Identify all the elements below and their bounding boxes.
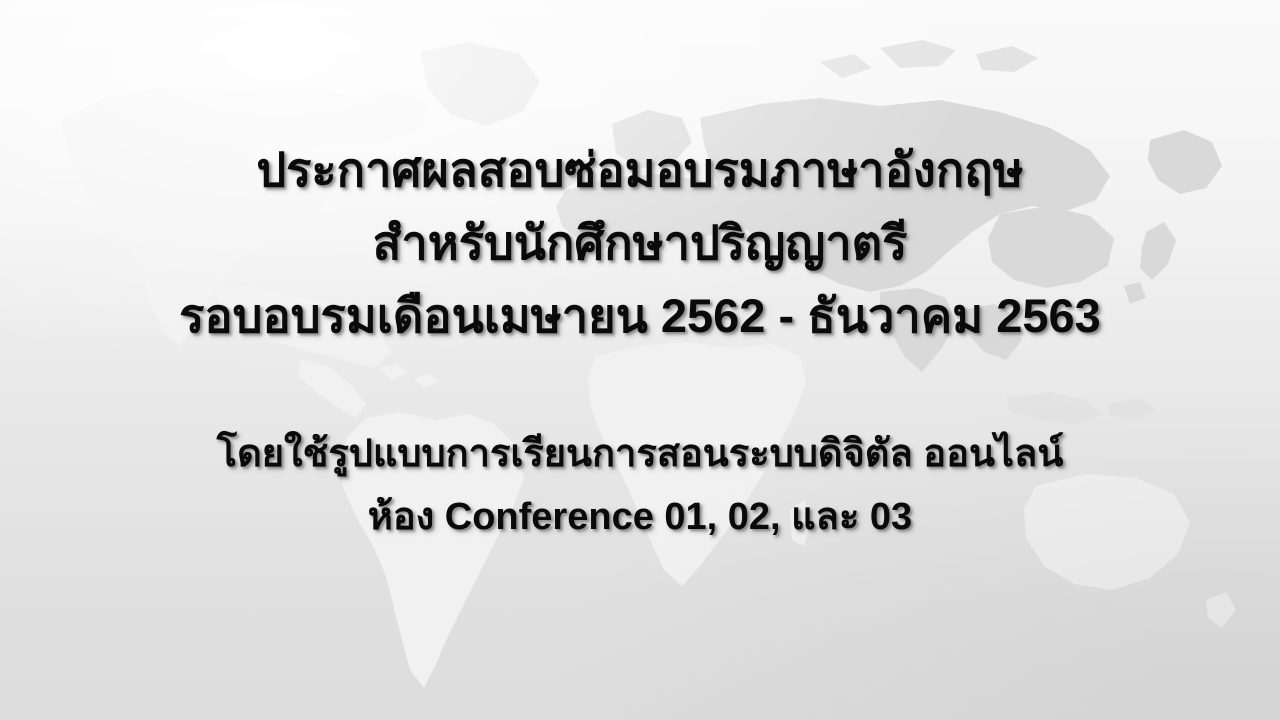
slide-text-layer: ประกาศผลสอบซ่อมอบรมภาษาอังกฤษ สำหรับนักศ… xyxy=(0,0,1280,720)
slide-subtitle: โดยใช้รูปแบบการเรียนการสอนระบบดิจิตัล ออ… xyxy=(0,423,1280,549)
subtitle-line-2: ห้อง Conference 01, 02, และ 03 xyxy=(0,486,1280,549)
title-line-1: ประกาศผลสอบซ่อมอบรมภาษาอังกฤษ xyxy=(0,133,1280,206)
slide-title: ประกาศผลสอบซ่อมอบรมภาษาอังกฤษ สำหรับนักศ… xyxy=(0,133,1280,352)
background-sheen-overlay xyxy=(0,0,1280,720)
title-line-2: สำหรับนักศึกษาปริญญาตรี xyxy=(0,206,1280,279)
world-map-background xyxy=(0,0,1280,720)
presentation-slide: ประกาศผลสอบซ่อมอบรมภาษาอังกฤษ สำหรับนักศ… xyxy=(0,0,1280,720)
subtitle-line-1: โดยใช้รูปแบบการเรียนการสอนระบบดิจิตัล ออ… xyxy=(0,423,1280,486)
title-line-3: รอบอบรมเดือนเมษายน 2562 - ธันวาคม 2563 xyxy=(0,279,1280,352)
